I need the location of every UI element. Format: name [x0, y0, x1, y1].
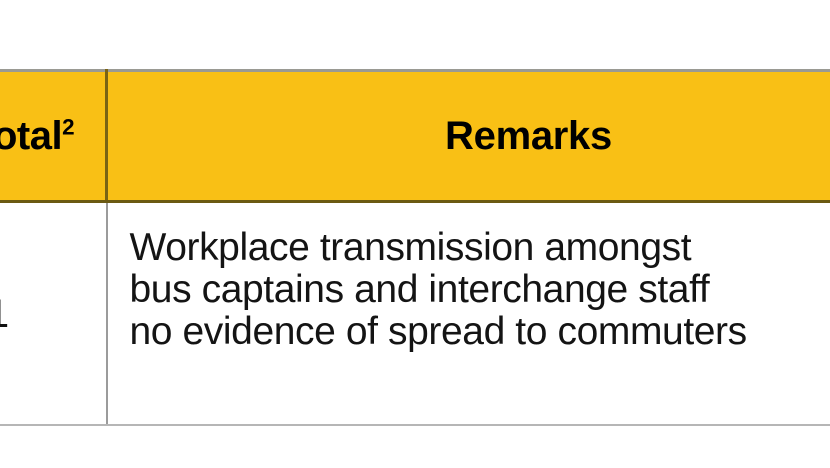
cell-remarks: Workplace transmission amongst bus capta… — [107, 202, 830, 426]
cell-total-value: 1 — [0, 294, 106, 334]
data-table: Total2 Remarks 1 Workplace transmission … — [0, 69, 830, 426]
cell-remarks-line-3: no evidence of spread to commuters — [130, 311, 830, 353]
column-header-total: Total2 — [0, 71, 107, 202]
cell-total: 1 — [0, 202, 107, 426]
cell-remarks-line-2: bus captains and interchange staff — [130, 269, 830, 311]
table-header-row: Total2 Remarks — [0, 71, 830, 202]
column-header-remarks-label: Remarks — [445, 114, 612, 158]
table-container: Total2 Remarks 1 Workplace transmission … — [0, 69, 830, 426]
column-header-total-label: Total2 — [0, 116, 74, 156]
cell-remarks-line-1: Workplace transmission amongst — [130, 227, 830, 269]
table-header: Total2 Remarks — [0, 71, 830, 202]
column-header-remarks: Remarks — [107, 71, 830, 202]
table-row: 1 Workplace transmission amongst bus cap… — [0, 202, 830, 426]
column-header-total-text: Total — [0, 114, 62, 158]
table-crop-viewport: Total2 Remarks 1 Workplace transmission … — [0, 0, 830, 468]
table-body: 1 Workplace transmission amongst bus cap… — [0, 202, 830, 426]
column-header-total-footnote-marker: 2 — [62, 115, 74, 140]
